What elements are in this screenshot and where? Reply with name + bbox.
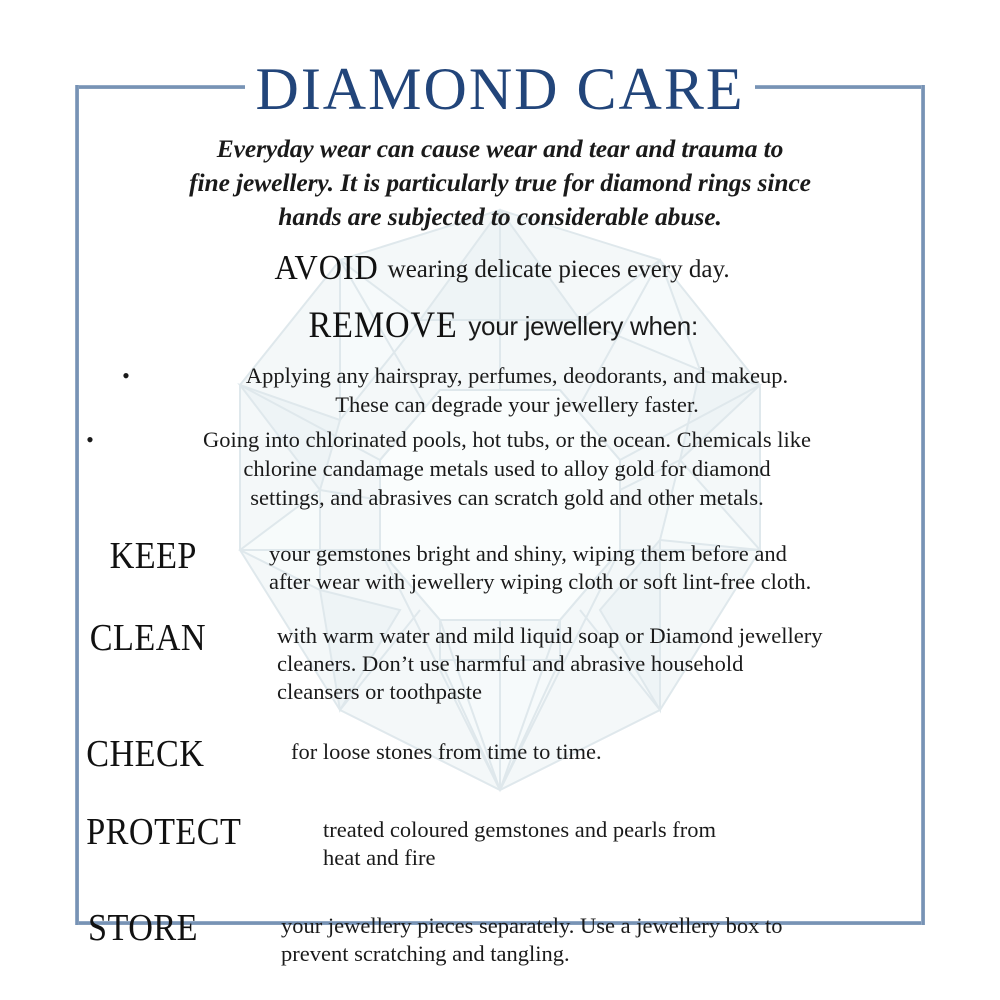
section-line-3: cleansers or toothpaste (277, 678, 921, 706)
section-store: STORE your jewellery pieces separately. … (79, 906, 921, 968)
bullet-line-3: settings, and abrasives can scratch gold… (99, 483, 915, 512)
bullet-line-1: Applying any hairspray, perfumes, deodor… (246, 363, 788, 388)
section-line-2: heat and fire (323, 844, 921, 872)
section-line-1: your jewellery pieces separately. Use a … (281, 913, 782, 938)
section-body-store: your jewellery pieces separately. Use a … (265, 906, 921, 968)
bullet-text: Applying any hairspray, perfumes, deodor… (135, 361, 905, 419)
remove-text: your jewellery when: (468, 311, 698, 341)
section-line-1: for loose stones from time to time. (291, 739, 602, 764)
section-check: CHECK for loose stones from time to time… (79, 732, 921, 774)
poster-content: Everyday wear can cause wear and tear an… (79, 120, 921, 982)
intro-line-3: hands are subjected to considerable abus… (101, 200, 899, 234)
section-body-protect: treated coloured gemstones and pearls fr… (315, 810, 921, 872)
bullet-dot-icon: • (117, 361, 135, 390)
remove-keyword: REMOVE (309, 304, 458, 347)
remove-statement: REMOVE your jewellery when: (79, 288, 921, 347)
section-line-1: treated coloured gemstones and pearls fr… (323, 817, 716, 842)
page-title: DIAMOND CARE (0, 58, 1000, 120)
care-sections: KEEP your gemstones bright and shiny, wi… (79, 518, 921, 968)
section-body-keep: your gemstones bright and shiny, wiping … (263, 534, 921, 596)
section-line-1: your gemstones bright and shiny, wiping … (269, 541, 787, 566)
section-line-2: prevent scratching and tangling. (281, 940, 921, 968)
section-line-2: cleaners. Don’t use harmful and abrasive… (277, 650, 921, 678)
section-keyword-keep: KEEP (79, 534, 245, 576)
list-item: • Applying any hairspray, perfumes, deod… (79, 361, 921, 419)
page-title-text: DIAMOND CARE (246, 58, 755, 120)
bullet-text: Going into chlorinated pools, hot tubs, … (99, 425, 921, 512)
bullet-line-1: Going into chlorinated pools, hot tubs, … (203, 427, 811, 452)
intro-paragraph: Everyday wear can cause wear and tear an… (79, 120, 921, 234)
remove-bullet-list: • Applying any hairspray, perfumes, deod… (79, 347, 921, 512)
section-line-2: after wear with jewellery wiping cloth o… (269, 568, 921, 596)
avoid-text: wearing delicate pieces every day. (388, 256, 730, 283)
section-line-1: with warm water and mild liquid soap or … (277, 623, 823, 648)
section-keyword-protect: PROTECT (79, 810, 291, 852)
section-keyword-check: CHECK (79, 732, 257, 774)
list-item: • Going into chlorinated pools, hot tubs… (79, 425, 921, 512)
intro-line-2: fine jewellery. It is particularly true … (101, 166, 899, 200)
diamond-care-poster: DIAMOND CARE Everyday wear can cause wea… (0, 0, 1000, 1000)
section-protect: PROTECT treated coloured gemstones and p… (79, 810, 921, 872)
section-body-check: for loose stones from time to time. (277, 732, 921, 766)
bullet-dot-icon: • (81, 425, 99, 454)
frame-right-line (921, 85, 925, 925)
bullet-line-2: These can degrade your jewellery faster. (135, 390, 899, 419)
avoid-statement: AVOID wearing delicate pieces every day. (79, 234, 921, 288)
section-keep: KEEP your gemstones bright and shiny, wi… (79, 534, 921, 596)
avoid-keyword: AVOID (275, 248, 379, 288)
intro-line-1: Everyday wear can cause wear and tear an… (217, 134, 784, 163)
section-body-clean: with warm water and mild liquid soap or … (277, 616, 921, 706)
section-keyword-clean: CLEAN (79, 616, 257, 658)
section-clean: CLEAN with warm water and mild liquid so… (79, 616, 921, 706)
bullet-line-2: chlorine candamage metals used to alloy … (99, 454, 915, 483)
section-keyword-store: STORE (79, 906, 246, 948)
